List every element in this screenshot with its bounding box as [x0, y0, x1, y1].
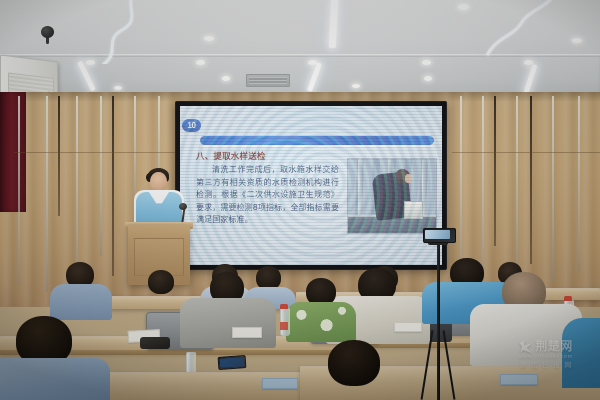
- downlight: [458, 4, 469, 10]
- attendee-body: [50, 284, 112, 320]
- phone-tripod[interactable]: [437, 243, 440, 400]
- slat-line: [578, 96, 580, 272]
- slat-line-dark: [494, 96, 496, 246]
- water-bottle-cap: [280, 304, 288, 309]
- slat-line: [552, 96, 554, 282]
- attendee-body: [180, 298, 276, 348]
- speaker-pivot-icon: [41, 26, 54, 38]
- presenter-head: [150, 172, 167, 192]
- slide-surface: 10 八、提取水样送检 清洗工作完成后，取水箱水样交给第三方有相关资质的水质检测…: [180, 106, 442, 265]
- handbag[interactable]: [140, 337, 170, 349]
- attendee-head: [148, 270, 174, 294]
- handout-paper[interactable]: [500, 374, 538, 385]
- slat-line-dark: [58, 96, 60, 216]
- slat-line: [100, 96, 102, 256]
- slat-line: [18, 96, 20, 286]
- slat-line: [516, 96, 518, 286]
- ceiling-air-vent: [246, 74, 290, 87]
- slide-page-badge: 10: [182, 119, 201, 132]
- downlight: [422, 60, 431, 65]
- podium-microphone: [179, 203, 187, 210]
- downlight: [524, 60, 533, 65]
- downlight: [308, 60, 317, 65]
- ceiling: [0, 0, 600, 96]
- projection-screen[interactable]: 10 八、提取水样送检 清洗工作完成后，取水箱水样交给第三方有相关资质的水质检测…: [175, 101, 447, 270]
- slide-heading: 八、提取水样送检: [196, 150, 266, 162]
- led-tube-center: [329, 0, 339, 48]
- downlight: [352, 84, 360, 88]
- downlight: [424, 76, 432, 81]
- smartphone-on-desk[interactable]: [218, 355, 247, 370]
- handout-paper[interactable]: [262, 378, 298, 389]
- downlight: [196, 60, 205, 65]
- wavy-led-strip-left: [60, 0, 180, 64]
- attendee-head: [328, 340, 380, 386]
- downlight: [572, 38, 582, 43]
- slat-line-dark: [112, 96, 114, 276]
- water-bottle-cap: [564, 296, 572, 301]
- wavy-led-strip-right: [418, 0, 568, 70]
- attendee-body: [286, 302, 356, 342]
- recording-smartphone-screen: [425, 230, 450, 239]
- slide-photo-sample-container: [404, 201, 423, 219]
- downlight: [204, 36, 214, 41]
- downlight: [86, 60, 95, 65]
- water-bottle-label: [280, 322, 288, 330]
- slide-title-rule: [200, 136, 434, 145]
- smartphone-screen: [220, 357, 245, 368]
- attendee-body: [562, 318, 600, 388]
- slide-title-underline: [200, 146, 434, 147]
- downlight: [114, 86, 122, 90]
- slat-line-dark: [530, 96, 532, 264]
- slide-body-text: 清洗工作完成后，取水箱水样交给第三方有相关资质的水质检测机构进行检测。根据《二次…: [196, 164, 339, 227]
- attendee-body: [0, 358, 110, 400]
- handout-paper[interactable]: [394, 322, 422, 332]
- downlight: [222, 76, 230, 81]
- slide-photo-worker-face: [405, 174, 412, 183]
- slat-line: [46, 96, 48, 292]
- wall-panel-seam: [452, 152, 600, 153]
- wall-panel-seam: [14, 152, 176, 153]
- slide-title-bar: [180, 120, 442, 135]
- handout-paper[interactable]: [232, 327, 262, 338]
- slide-photo: [347, 158, 437, 234]
- conference-room-photo: 10 八、提取水样送检 清洗工作完成后，取水箱水样交给第三方有相关资质的水质检测…: [0, 0, 600, 400]
- slide-photo-pipe: [358, 159, 362, 217]
